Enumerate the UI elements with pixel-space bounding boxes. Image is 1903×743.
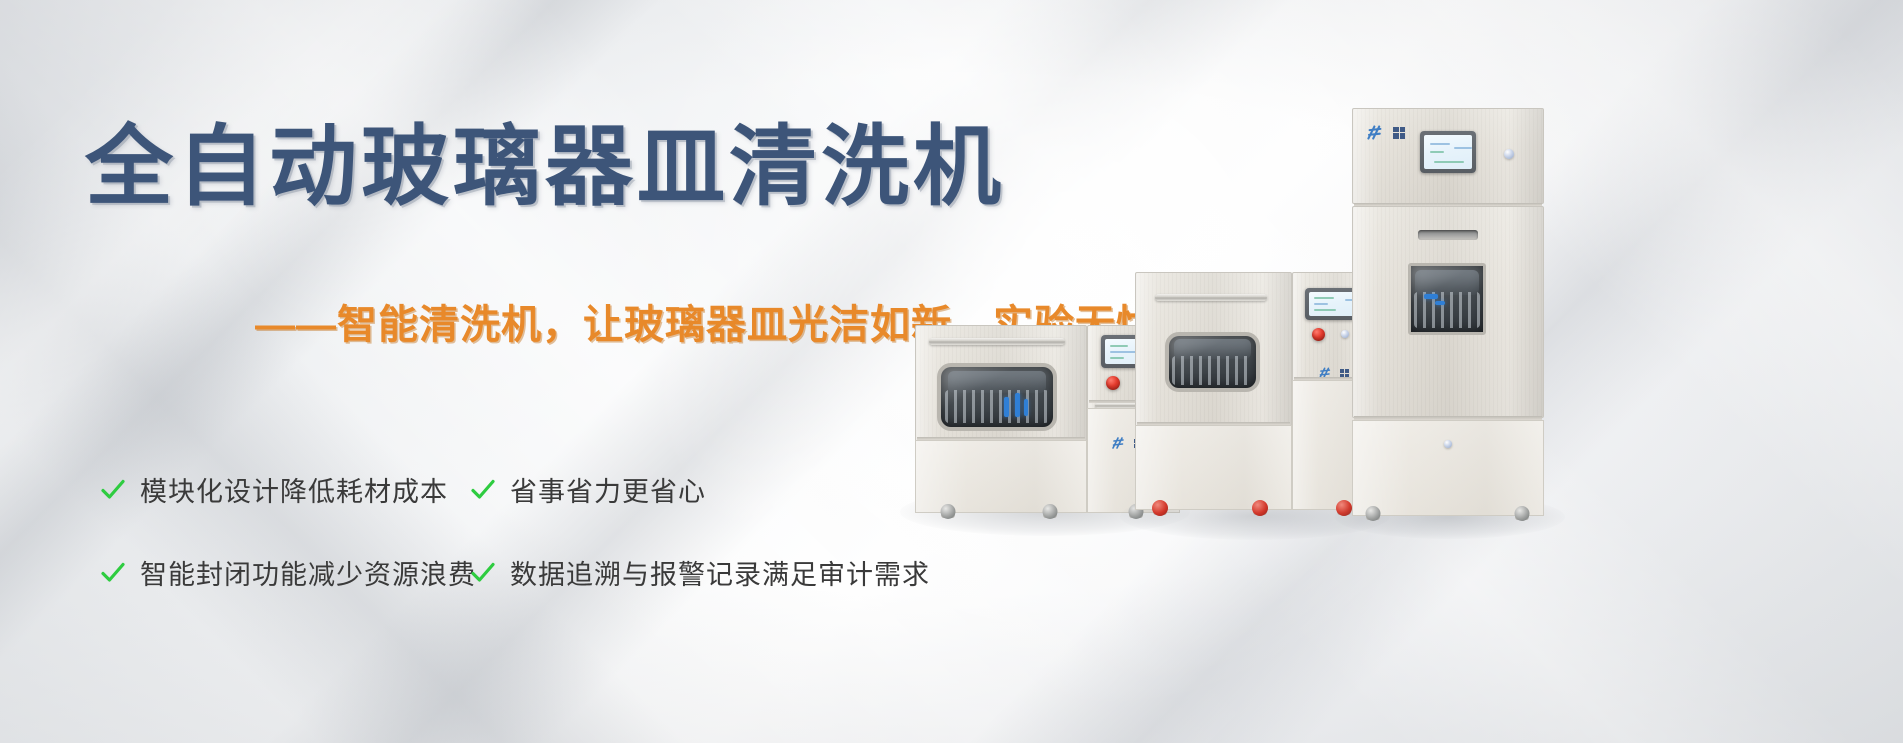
blue-glassware-item: [1424, 294, 1438, 299]
check-icon: [470, 477, 496, 503]
blue-glassware-item: [1015, 393, 1020, 417]
check-icon: [470, 560, 496, 586]
feature-item: 智能封闭功能减少资源浪费: [100, 553, 470, 592]
door-handle: [929, 338, 1065, 345]
emergency-stop-button[interactable]: [1106, 376, 1120, 390]
caster-wheel: [941, 510, 955, 518]
feature-list: 模块化设计降低耗材成本 省事省力更省心 智能封闭功能减少资源浪费: [100, 470, 930, 592]
brand-h-mark: [1366, 124, 1390, 141]
caster-wheel: [1153, 507, 1167, 515]
lower-access-panel: [915, 440, 1087, 513]
caster-wheel: [1515, 512, 1529, 520]
glassware-rack: [1172, 356, 1252, 385]
feature-label: 智能封闭功能减少资源浪费: [140, 553, 476, 592]
door-handle-slot: [1418, 230, 1478, 240]
feature-item: 模块化设计降低耗材成本: [100, 470, 470, 509]
brand-h-mark: [1111, 436, 1131, 450]
base-panel-latch: [1444, 440, 1452, 448]
emergency-stop-button[interactable]: [1312, 328, 1325, 341]
hero-banner: 全自动玻璃器皿清洗机 ——智能清洗机，让玻璃器皿光洁如新，实验无忧！ 模块化设计…: [0, 0, 1903, 743]
check-icon: [100, 560, 126, 586]
viewing-window: [1408, 263, 1486, 335]
page-title: 全自动玻璃器皿清洗机: [85, 96, 1005, 223]
product-image-freestanding-washer: [1135, 272, 1380, 512]
feature-item: 省事省力更省心: [470, 470, 930, 509]
caster-wheel: [1043, 510, 1057, 518]
product-image-tall-column-washer: [1352, 108, 1544, 518]
viewing-window: [937, 363, 1057, 431]
product-image-group: [880, 0, 1903, 743]
brand-squares-mark: [1393, 127, 1405, 139]
touchscreen-display[interactable]: [1424, 135, 1472, 169]
glassware-rack: [945, 390, 1048, 423]
check-icon: [100, 477, 126, 503]
blue-glassware-item: [1004, 397, 1009, 417]
caster-wheel: [1366, 512, 1380, 520]
brand-logo: [1366, 124, 1405, 141]
feature-label: 数据追溯与报警记录满足审计需求: [510, 553, 930, 592]
lower-access-panel: [1135, 425, 1292, 510]
door-handle: [1155, 294, 1267, 301]
blue-glassware-item: [1024, 399, 1028, 416]
status-indicator-light: [1341, 330, 1349, 338]
touchscreen-hmi[interactable]: [1420, 131, 1476, 173]
base-access-panel: [1352, 420, 1544, 516]
feature-label: 省事省力更省心: [510, 470, 706, 509]
feature-label: 模块化设计降低耗材成本: [140, 470, 448, 509]
blue-glassware-item: [1435, 301, 1445, 305]
viewing-window: [1165, 332, 1260, 392]
status-indicator-light: [1504, 149, 1514, 159]
caster-wheel: [1253, 507, 1267, 515]
feature-item: 数据追溯与报警记录满足审计需求: [470, 553, 930, 592]
